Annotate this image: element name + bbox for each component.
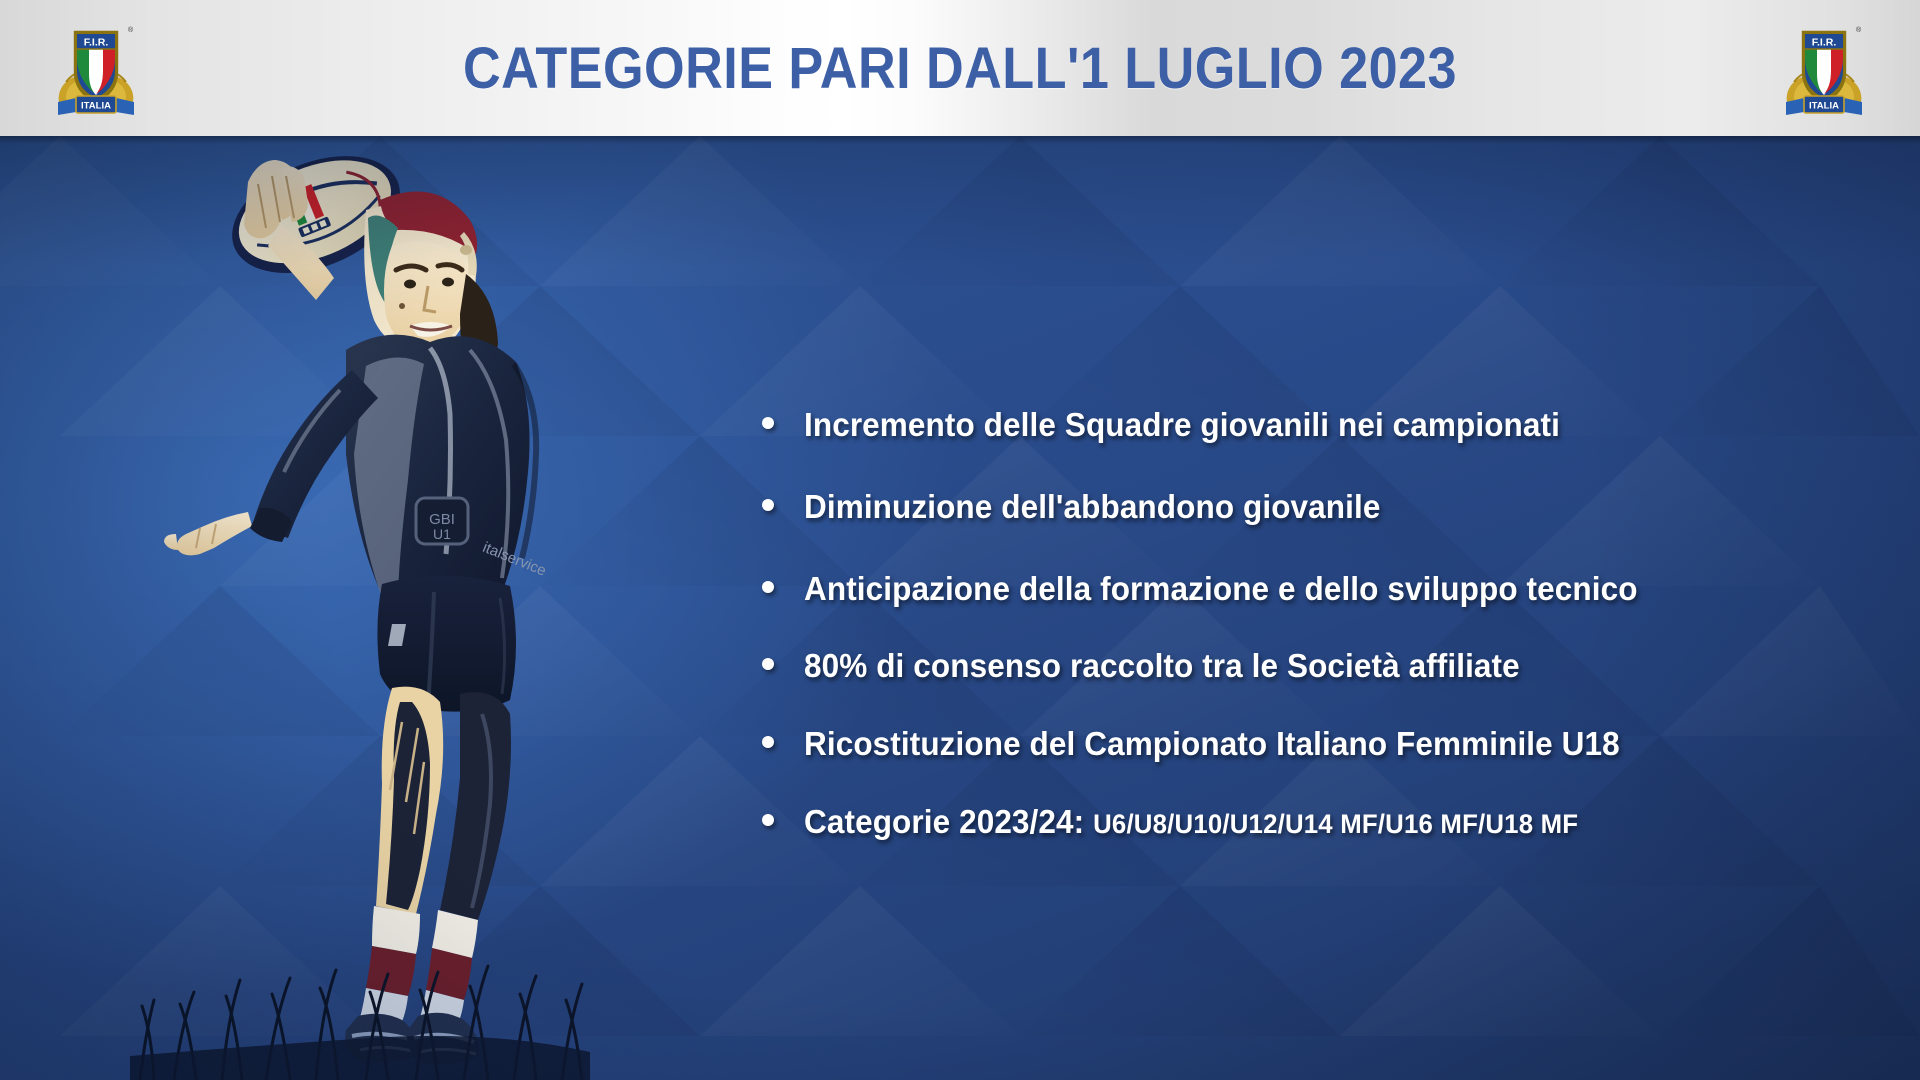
- bullet-text-categories-values: U6/U8/U10/U12/U14 MF/U16 MF/U18 MF: [1093, 809, 1578, 839]
- bullet-dot-icon: [762, 814, 774, 826]
- bullet-dot-icon: [762, 499, 774, 511]
- header-bar: CATEGORIE PARI DALL'1 LUGLIO 2023 F.I.R.: [0, 0, 1920, 136]
- female-rugby-player-illustration: GBI U1 italservice: [130, 154, 590, 1080]
- fir-logo-left: F.I.R. ® ITALIA: [50, 16, 142, 120]
- bullet-dot-icon: [762, 581, 774, 593]
- shield-icon: F.I.R.: [75, 32, 117, 102]
- list-item: Categorie 2023/24: U6/U8/U10/U12/U14 MF/…: [762, 803, 1872, 841]
- header-shadow: [0, 136, 1920, 144]
- slide-body: GBI U1 italservice: [0, 136, 1920, 1080]
- list-item: Diminuzione dell'abbandono giovanile: [762, 488, 1872, 526]
- slide-root: GBI U1 italservice: [0, 0, 1920, 1080]
- bullet-dot-icon: [762, 417, 774, 429]
- bullet-text: Diminuzione dell'abbandono giovanile: [804, 488, 1380, 526]
- player-jersey: GBI U1 italservice: [346, 335, 549, 604]
- bullet-text: Ricostituzione del Campionato Italiano F…: [804, 725, 1620, 763]
- bullet-text: 80% di consenso raccolto tra le Società …: [804, 647, 1520, 685]
- list-item: Ricostituzione del Campionato Italiano F…: [762, 725, 1872, 763]
- bullet-text: Incremento delle Squadre giovanili nei c…: [804, 406, 1560, 444]
- list-item: Incremento delle Squadre giovanili nei c…: [762, 406, 1872, 444]
- svg-text:U1: U1: [433, 526, 451, 542]
- bullet-dot-icon: [762, 658, 774, 670]
- fir-logo-right: F.I.R. ® ITALIA: [1778, 16, 1870, 120]
- italia-label: ITALIA: [1809, 101, 1839, 112]
- list-item: 80% di consenso raccolto tra le Società …: [762, 647, 1872, 685]
- bullet-text: Anticipazione della formazione e dello s…: [804, 570, 1638, 608]
- page-title: CATEGORIE PARI DALL'1 LUGLIO 2023: [96, 0, 1824, 136]
- shield-icon: F.I.R.: [1803, 32, 1845, 102]
- bullet-dot-icon: [762, 736, 774, 748]
- trademark-symbol: ®: [128, 26, 134, 34]
- fir-label: F.I.R.: [1812, 37, 1837, 49]
- italia-label: ITALIA: [81, 101, 111, 112]
- bullet-text-categories: Categorie 2023/24: U6/U8/U10/U12/U14 MF/…: [804, 803, 1578, 841]
- trademark-symbol: ®: [1856, 26, 1862, 34]
- player-right-arm: [164, 370, 378, 555]
- fir-label: F.I.R.: [84, 37, 109, 49]
- list-item: Anticipazione della formazione e dello s…: [762, 570, 1872, 608]
- bullet-list: Incremento delle Squadre giovanili nei c…: [762, 406, 1872, 841]
- bullet-text-label: Categorie 2023/24:: [804, 803, 1084, 840]
